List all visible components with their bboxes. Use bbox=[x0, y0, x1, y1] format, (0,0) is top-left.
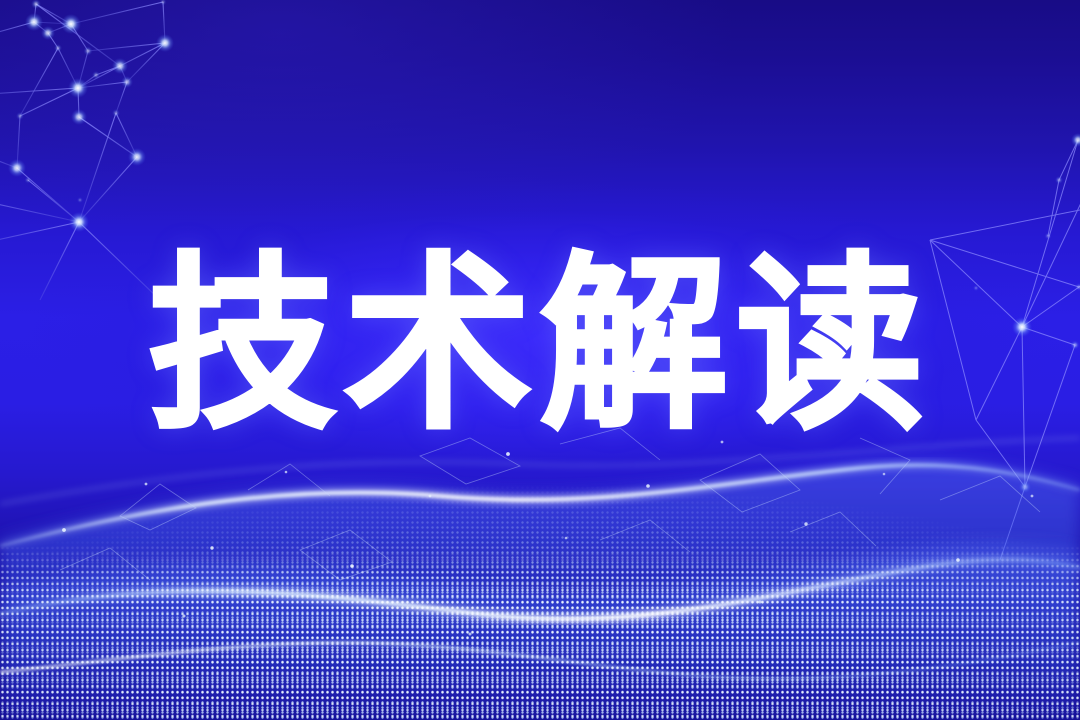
particle-dot-grid-front bbox=[0, 545, 1080, 720]
tech-banner: 技术解读 bbox=[0, 0, 1080, 720]
